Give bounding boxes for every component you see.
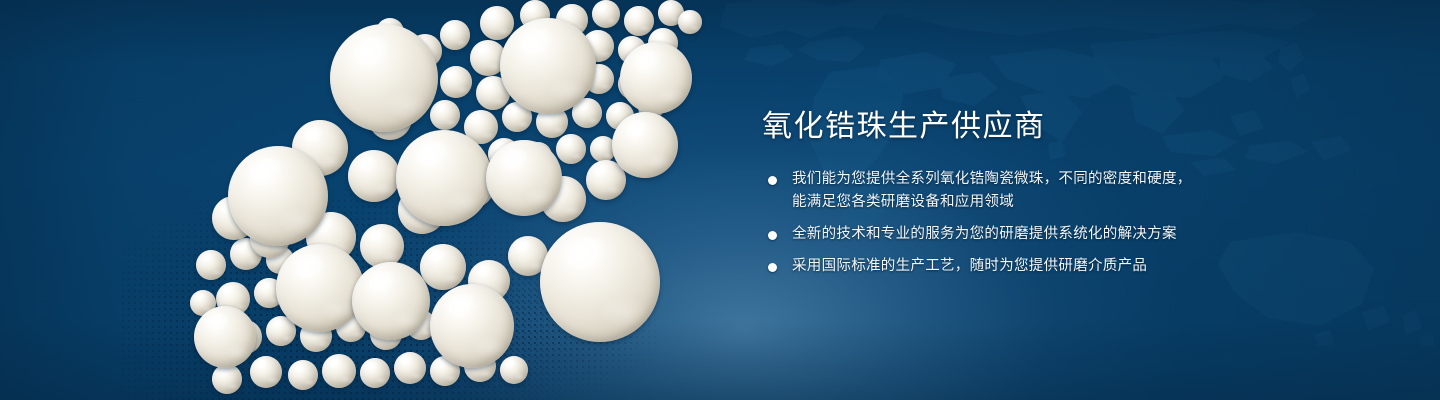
bullet-line: 全新的技术和专业的服务为您的研磨提供系统化的解决方案 bbox=[792, 223, 1262, 246]
list-item: 我们能为您提供全系列氧化锆陶瓷微珠，不同的密度和硬度， 能满足您各类研磨设备和应… bbox=[762, 168, 1262, 214]
bullet-dot-icon bbox=[768, 231, 777, 240]
banner-text-content: 氧化锆珠生产供应商 我们能为您提供全系列氧化锆陶瓷微珠，不同的密度和硬度， 能满… bbox=[762, 108, 1262, 278]
bullet-dot-icon bbox=[768, 263, 777, 272]
feature-bullet-list: 我们能为您提供全系列氧化锆陶瓷微珠，不同的密度和硬度， 能满足您各类研磨设备和应… bbox=[762, 168, 1262, 278]
bullet-line: 采用国际标准的生产工艺，随时为您提供研磨介质产品 bbox=[792, 255, 1262, 278]
list-item: 全新的技术和专业的服务为您的研磨提供系统化的解决方案 bbox=[762, 223, 1262, 246]
bullet-line: 能满足您各类研磨设备和应用领域 bbox=[792, 191, 1262, 214]
bullet-dot-icon bbox=[768, 176, 777, 185]
hero-banner: 氧化锆珠生产供应商 我们能为您提供全系列氧化锆陶瓷微珠，不同的密度和硬度， 能满… bbox=[0, 0, 1440, 400]
list-item: 采用国际标准的生产工艺，随时为您提供研磨介质产品 bbox=[762, 255, 1262, 278]
page-title: 氧化锆珠生产供应商 bbox=[762, 108, 1262, 146]
bullet-line: 我们能为您提供全系列氧化锆陶瓷微珠，不同的密度和硬度， bbox=[792, 168, 1262, 191]
